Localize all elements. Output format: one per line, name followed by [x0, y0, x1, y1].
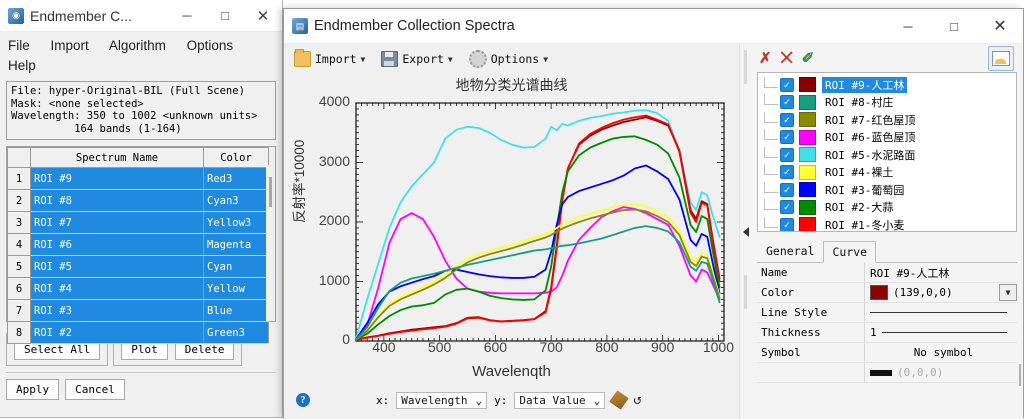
property-value: (139,0,0)	[893, 286, 953, 299]
chevron-down-icon: ⌄	[594, 394, 601, 407]
property-value: (0,0,0)	[897, 366, 943, 379]
chevron-down-icon: ▼	[543, 55, 548, 64]
property-key	[757, 363, 865, 382]
spectra-window-controls: ─ □ ✕	[885, 9, 1023, 43]
roi-list-item[interactable]: ✓ROI #1-冬小麦	[758, 216, 1016, 232]
chevron-down-icon: ▼	[361, 55, 366, 64]
chevron-down-icon: ▼	[448, 55, 453, 64]
x-axis-selector-label: x:	[376, 394, 389, 407]
row-spectrum-name[interactable]: ROI #8	[31, 190, 204, 212]
spectrum-table-container: Spectrum Name Color 1ROI #9Red32ROI #8Cy…	[6, 146, 276, 322]
roi-item-label: ROI #8-村庄	[822, 94, 896, 110]
endmember-collection-window: ◉ Endmember C... ─ □ ✕ File Import Algor…	[0, 0, 283, 418]
chart-title: 地物分类光谱曲线	[284, 75, 739, 95]
roi-list-item[interactable]: ✓ROI #8-村庄	[758, 94, 1016, 112]
property-value-cell: No symbol	[865, 346, 1017, 359]
menu-item-help[interactable]: Help	[8, 56, 265, 75]
row-index: 7	[8, 300, 31, 322]
import-menu-button[interactable]: Import ▼	[294, 51, 365, 67]
roi-list-item[interactable]: ✓ROI #2-大蒜	[758, 199, 1016, 217]
roi-visibility-checkbox[interactable]: ✓	[780, 148, 794, 162]
thickness-sample[interactable]	[882, 332, 1007, 333]
tree-connector-icon	[764, 77, 778, 88]
tree-connector-icon	[764, 147, 778, 158]
y-axis-selector-label: y:	[494, 394, 507, 407]
row-index: 6	[8, 278, 31, 300]
apply-button[interactable]: Apply	[6, 379, 59, 400]
row-spectrum-name[interactable]: ROI #4	[31, 278, 204, 300]
x-tick-label: 600	[469, 339, 521, 355]
folder-icon	[294, 51, 311, 67]
table-row[interactable]: 7ROI #3Blue	[8, 300, 269, 322]
spectra-close-button[interactable]: ✕	[977, 9, 1023, 43]
row-color-name[interactable]: Cyan3	[204, 190, 269, 212]
roi-color-swatch[interactable]	[799, 182, 816, 197]
row-color-name[interactable]: Yellow3	[204, 212, 269, 234]
roi-visibility-checkbox[interactable]: ✓	[780, 218, 794, 232]
spectra-minimize-button[interactable]: ─	[885, 9, 931, 43]
scene-info-text: File: hyper-Original-BIL (Full Scene) Ma…	[6, 81, 276, 140]
roi-color-swatch[interactable]	[799, 217, 816, 232]
spectra-window-title: Endmember Collection Spectra	[314, 18, 515, 34]
collapse-left-icon[interactable]	[743, 227, 749, 237]
spectrum-table-body: 1ROI #9Red32ROI #8Cyan33ROI #7Yellow34RO…	[8, 168, 269, 344]
delete-all-icon[interactable]: ⨉	[781, 50, 793, 67]
table-row[interactable]: 1ROI #9Red3	[8, 168, 269, 190]
back-window-menubar: File Import Algorithm Options Help	[0, 32, 282, 77]
roi-visibility-checkbox[interactable]: ✓	[780, 183, 794, 197]
roi-item-label: ROI #9-人工林	[822, 77, 907, 93]
table-row[interactable]: 8ROI #2Green3	[8, 322, 269, 344]
roi-color-swatch[interactable]	[799, 77, 816, 92]
roi-visibility-checkbox[interactable]: ✓	[780, 200, 794, 214]
property-value-cell: 1	[865, 326, 1017, 339]
chevron-down-icon[interactable]: ▼	[999, 284, 1017, 301]
roi-list[interactable]: ✓ROI #9-人工林✓ROI #8-村庄✓ROI #7-红色屋顶✓ROI #6…	[757, 72, 1017, 232]
x-tick-label: 400	[358, 339, 410, 355]
property-key: Color	[757, 283, 865, 302]
row-index: 3	[8, 212, 31, 234]
tree-connector-icon	[764, 129, 778, 140]
chart-toolbar: Import ▼ Export ▼ Options ▼	[284, 44, 739, 74]
x-tick-label: 700	[525, 339, 577, 355]
menu-item-algorithm[interactable]: Algorithm	[109, 38, 166, 53]
roi-visibility-checkbox[interactable]: ✓	[780, 165, 794, 179]
property-table: NameROI #9-人工林Color(139,0,0)▼Line StyleT…	[757, 263, 1017, 383]
back-window-titlebar: ◉ Endmember C... ─ □ ✕	[0, 0, 282, 32]
property-row[interactable]: Color(139,0,0)▼	[757, 283, 1017, 303]
delete-item-icon[interactable]: ✗	[759, 49, 772, 67]
apply-cancel-row: Apply Cancel	[6, 372, 276, 400]
snapshot-icon[interactable]	[988, 46, 1014, 71]
spectra-titlebar: ▤ Endmember Collection Spectra ─ □ ✕	[284, 9, 1023, 44]
back-window-title: Endmember C...	[30, 8, 132, 24]
roi-item-label: ROI #4-裸土	[822, 164, 896, 180]
property-value-cell: ROI #9-人工林	[865, 265, 1017, 281]
edit-curve-icon[interactable]: ✐	[802, 49, 815, 67]
export-menu-button[interactable]: Export ▼	[381, 51, 452, 67]
roi-visibility-checkbox[interactable]: ✓	[780, 95, 794, 109]
spectra-app-icon: ▤	[292, 18, 308, 34]
import-label: Import	[315, 52, 357, 66]
options-label: Options	[491, 52, 539, 66]
roi-color-swatch[interactable]	[799, 95, 816, 110]
x-axis-select-value: Wavelength	[401, 394, 467, 407]
property-value: No symbol	[870, 346, 1017, 359]
refresh-icon[interactable]: ↺	[633, 392, 641, 408]
roi-item-label: ROI #5-水泥路面	[822, 147, 918, 163]
tree-connector-icon	[764, 112, 778, 123]
floppy-disk-icon	[381, 51, 398, 67]
row-spectrum-name[interactable]: ROI #2	[31, 322, 204, 344]
roi-item-label: ROI #3-葡萄园	[822, 182, 907, 198]
gear-icon	[469, 50, 487, 68]
roi-color-swatch[interactable]	[799, 130, 816, 145]
roi-item-label: ROI #2-大蒜	[822, 199, 896, 215]
table-row[interactable]: 4ROI #6Magenta	[8, 234, 269, 256]
property-value-cell: (0,0,0)	[865, 366, 1017, 379]
back-window-controls: ─ □ ✕	[168, 0, 282, 31]
chart-pane: Import ▼ Export ▼ Options ▼ 地物分类光谱曲线 反射率…	[284, 44, 739, 419]
row-color-name[interactable]: Blue	[204, 300, 269, 322]
roi-list-item[interactable]: ✓ROI #4-裸土	[758, 164, 1016, 182]
roi-pane: ✗ ⨉ ✐ ✓ROI #9-人工林✓ROI #8-村庄✓ROI #7-红色屋顶✓…	[751, 44, 1023, 419]
cancel-button[interactable]: Cancel	[65, 379, 125, 400]
x-axis-label: Wavelenqth	[284, 363, 739, 380]
axis-selector-bar: ? x: Wavelength ⌄ y: Data Value ⌄ ↺	[284, 385, 739, 415]
roi-color-swatch[interactable]	[799, 147, 816, 162]
menu-item-file[interactable]: File	[8, 38, 30, 53]
tab-general[interactable]: General	[757, 240, 823, 262]
roi-list-item[interactable]: ✓ROI #7-红色屋顶	[758, 111, 1016, 129]
roi-list-item[interactable]: ✓ROI #6-蓝色屋顶	[758, 129, 1016, 147]
spectra-body: Import ▼ Export ▼ Options ▼ 地物分类光谱曲线 反射率…	[284, 44, 1023, 419]
row-spectrum-name[interactable]: ROI #6	[31, 234, 204, 256]
roi-visibility-checkbox[interactable]: ✓	[780, 113, 794, 127]
table-row[interactable]: 2ROI #8Cyan3	[8, 190, 269, 212]
row-index: 4	[8, 234, 31, 256]
property-value: ROI #9-人工林	[870, 265, 949, 281]
property-value: 1	[870, 326, 877, 339]
tab-curve[interactable]: Curve	[823, 241, 876, 263]
row-color-name[interactable]: Red3	[204, 168, 269, 190]
x-tick-label: 500	[414, 339, 466, 355]
property-value-cell: (139,0,0)▼	[865, 284, 1017, 301]
row-spectrum-name[interactable]: ROI #7	[31, 212, 204, 234]
spectra-window: ▤ Endmember Collection Spectra ─ □ ✕ Imp…	[283, 8, 1024, 418]
roi-toolbar: ✗ ⨉ ✐	[751, 44, 1023, 72]
col-color[interactable]: Color	[204, 148, 269, 168]
help-icon[interactable]: ?	[296, 393, 310, 407]
roi-color-swatch[interactable]	[799, 200, 816, 215]
property-tabs: GeneralCurve	[757, 240, 1017, 263]
property-row[interactable]: NameROI #9-人工林	[757, 263, 1017, 283]
close-button[interactable]: ✕	[244, 0, 282, 31]
row-index: 5	[8, 256, 31, 278]
roi-color-swatch[interactable]	[799, 112, 816, 127]
row-spectrum-name[interactable]: ROI #9	[31, 168, 204, 190]
table-row[interactable]: 5ROI #5Cyan	[8, 256, 269, 278]
roi-item-label: ROI #7-红色屋顶	[822, 112, 918, 128]
spectrum-table-scrollbar[interactable]	[266, 165, 274, 321]
property-key: Name	[757, 263, 865, 282]
row-color-name[interactable]: Green3	[204, 322, 269, 344]
minimize-button[interactable]: ─	[168, 0, 206, 31]
spectra-maximize-button[interactable]: □	[931, 9, 977, 43]
roi-visibility-checkbox[interactable]: ✓	[780, 130, 794, 144]
row-spectrum-name[interactable]: ROI #3	[31, 300, 204, 322]
x-axis-select[interactable]: Wavelength ⌄	[396, 392, 487, 409]
options-menu-button[interactable]: Options ▼	[469, 50, 548, 68]
roi-item-label: ROI #6-蓝色屋顶	[822, 129, 918, 145]
row-index: 2	[8, 190, 31, 212]
menu-item-options[interactable]: Options	[187, 38, 234, 53]
roi-list-item[interactable]: ✓ROI #3-葡萄园	[758, 181, 1016, 199]
roi-list-item[interactable]: ✓ROI #9-人工林	[758, 76, 1016, 94]
col-spectrum-name[interactable]: Spectrum Name	[31, 148, 204, 168]
symbol-preview	[870, 370, 892, 376]
row-index: 8	[8, 322, 31, 344]
row-color-name[interactable]: Yellow	[204, 278, 269, 300]
table-row[interactable]: 6ROI #4Yellow	[8, 278, 269, 300]
property-row[interactable]: (0,0,0)	[757, 363, 1017, 383]
table-row[interactable]: 3ROI #7Yellow3	[8, 212, 269, 234]
property-key: Line Style	[757, 303, 865, 322]
app-icon: ◉	[8, 8, 24, 24]
plot-area[interactable]: 反射率*10000 01000200030004000 400500600700…	[284, 95, 739, 385]
color-chip[interactable]	[870, 285, 888, 300]
x-tick-label: 1000	[692, 339, 744, 355]
property-scrollbar[interactable]	[1019, 364, 1021, 386]
property-row[interactable]: Thickness1	[757, 323, 1017, 343]
roi-list-item[interactable]: ✓ROI #5-水泥路面	[758, 146, 1016, 164]
row-index: 1	[8, 168, 31, 190]
property-row[interactable]: SymbolNo symbol	[757, 343, 1017, 363]
x-tick-label: 800	[581, 339, 633, 355]
property-key: Symbol	[757, 343, 865, 362]
table-header-row: Spectrum Name Color	[8, 148, 269, 168]
x-axis-ticks: 4005006007008009001000	[284, 339, 739, 361]
menu-item-import[interactable]: Import	[51, 38, 89, 53]
maximize-button[interactable]: □	[206, 0, 244, 31]
chevron-down-icon: ⌄	[475, 394, 482, 407]
pencil-icon[interactable]	[609, 390, 628, 409]
col-index	[8, 148, 31, 168]
line-style-sample[interactable]	[870, 312, 1007, 313]
x-tick-label: 900	[637, 339, 689, 355]
property-row[interactable]: Line Style	[757, 303, 1017, 323]
row-color-name[interactable]: Magenta	[204, 234, 269, 256]
export-label: Export	[402, 52, 444, 66]
roi-color-swatch[interactable]	[799, 165, 816, 180]
y-axis-select-value: Data Value	[519, 394, 585, 407]
y-axis-select[interactable]: Data Value ⌄	[514, 392, 605, 409]
property-key: Thickness	[757, 323, 865, 342]
roi-visibility-checkbox[interactable]: ✓	[780, 78, 794, 92]
row-color-name[interactable]: Cyan	[204, 256, 269, 278]
pane-divider[interactable]	[739, 44, 751, 419]
tree-connector-icon	[764, 182, 778, 193]
property-value-cell	[865, 312, 1017, 313]
row-spectrum-name[interactable]: ROI #5	[31, 256, 204, 278]
tree-connector-icon	[764, 94, 778, 105]
roi-item-label: ROI #1-冬小麦	[822, 217, 907, 232]
tree-connector-icon	[764, 199, 778, 210]
spectrum-table: Spectrum Name Color 1ROI #9Red32ROI #8Cy…	[7, 147, 269, 344]
tree-connector-icon	[764, 164, 778, 175]
tree-connector-icon	[764, 217, 778, 228]
